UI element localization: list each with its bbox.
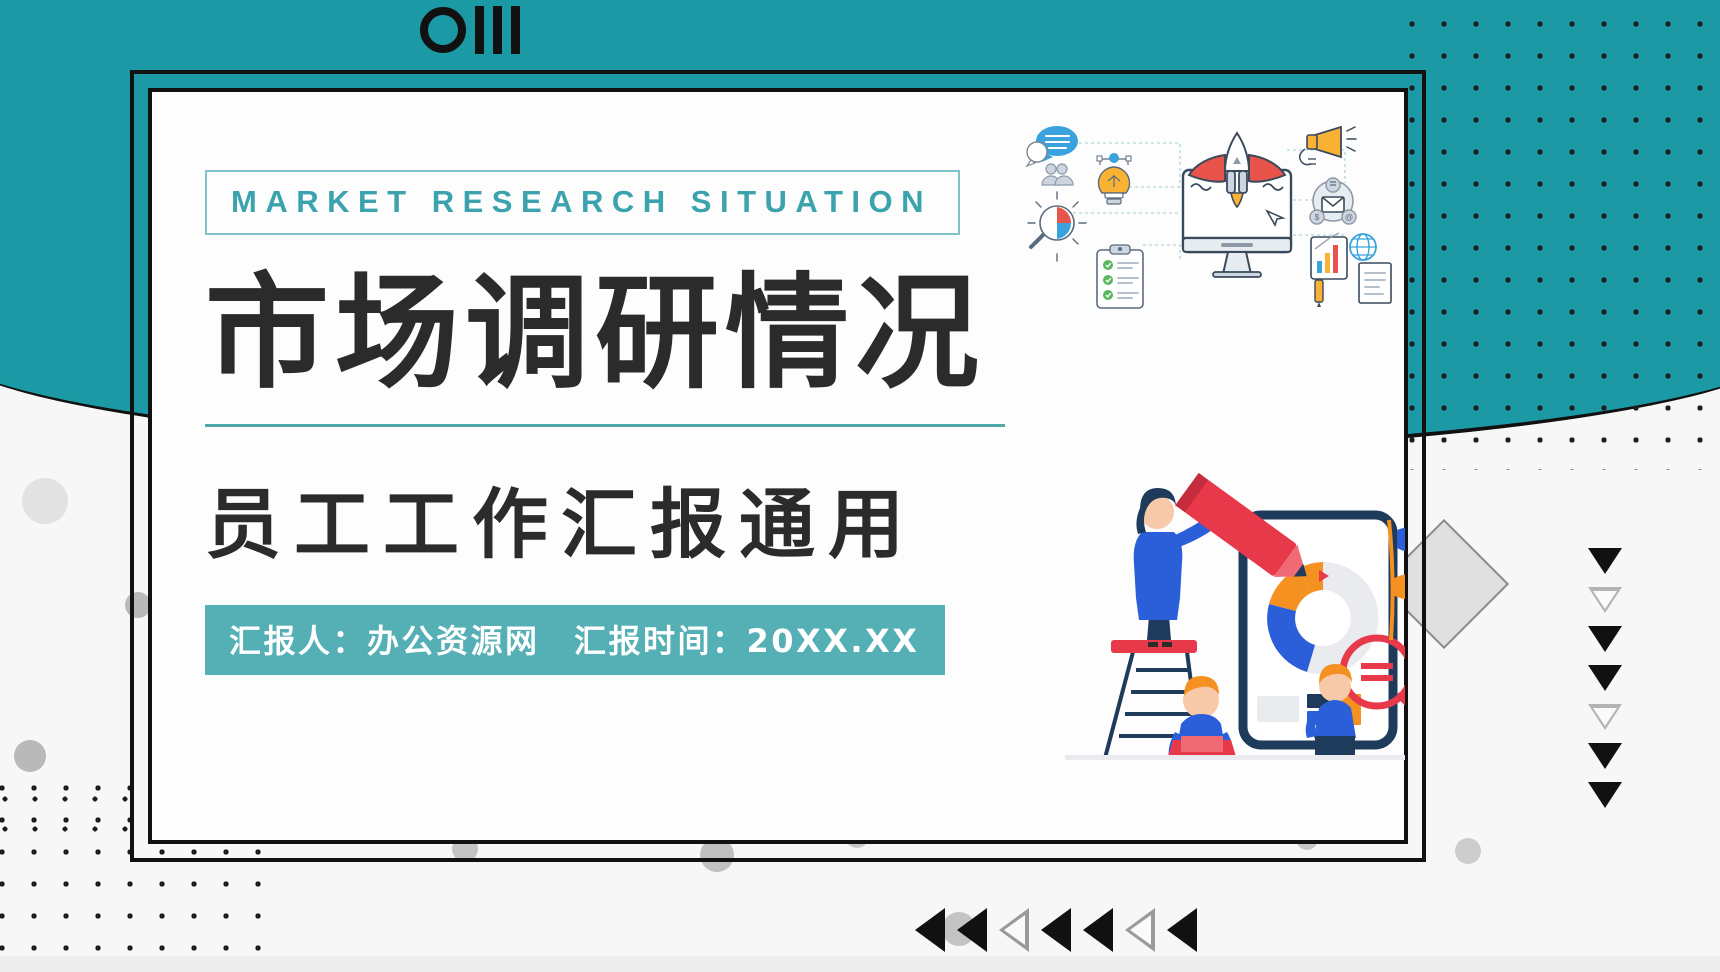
startup-rocket-illustration: $ @ (1015, 125, 1410, 310)
decorative-circle (22, 478, 68, 524)
olll-logo (420, 6, 520, 54)
triangle-left-icon (1167, 908, 1197, 952)
triangle-left-outline-icon (999, 908, 1029, 952)
slide-content: MARKET RESEARCH SITUATION 市场调研情况 员工工作汇报通… (205, 170, 1005, 675)
presentation-slide: $ @ (0, 0, 1720, 972)
logo-bar-icon (475, 6, 484, 54)
data-analysis-illustration (1005, 440, 1405, 760)
title-divider (205, 424, 1005, 427)
triangle-marker-column (1588, 548, 1622, 808)
triangle-down-icon (1588, 548, 1622, 574)
page-subtitle: 员工工作汇报通用 (205, 463, 1005, 573)
reporter-and-date-text: 汇报人：办公资源网 汇报时间：20XX.XX (229, 616, 919, 662)
triangle-down-icon (1588, 665, 1622, 691)
dot-pattern-bottom-left-small (0, 784, 140, 854)
triangle-left-icon (915, 908, 945, 952)
decorative-circle (14, 740, 46, 772)
meta-bar: 汇报人：办公资源网 汇报时间：20XX.XX (205, 605, 945, 675)
eyebrow-box: MARKET RESEARCH SITUATION (205, 170, 960, 235)
decorative-circle (1455, 838, 1481, 864)
triangle-left-icon (957, 908, 987, 952)
triangle-marker-row (915, 908, 1197, 952)
triangle-left-outline-icon (1125, 908, 1155, 952)
triangle-down-icon (1588, 743, 1622, 769)
triangle-left-icon (1083, 908, 1113, 952)
svg-text:$: $ (1315, 213, 1320, 222)
triangle-down-outline-icon (1588, 704, 1622, 730)
triangle-down-icon (1588, 782, 1622, 808)
triangle-left-icon (1041, 908, 1071, 952)
triangle-down-icon (1588, 626, 1622, 652)
page-title: 市场调研情况 (205, 269, 1005, 400)
svg-text:@: @ (1345, 213, 1353, 222)
logo-ring-icon (420, 7, 466, 53)
logo-bar-icon (511, 6, 520, 54)
dot-pattern-top-right (1390, 0, 1720, 470)
logo-bar-icon (493, 6, 502, 54)
triangle-down-outline-icon (1588, 587, 1622, 613)
bottom-strip (0, 956, 1720, 972)
eyebrow-text: MARKET RESEARCH SITUATION (231, 184, 932, 220)
